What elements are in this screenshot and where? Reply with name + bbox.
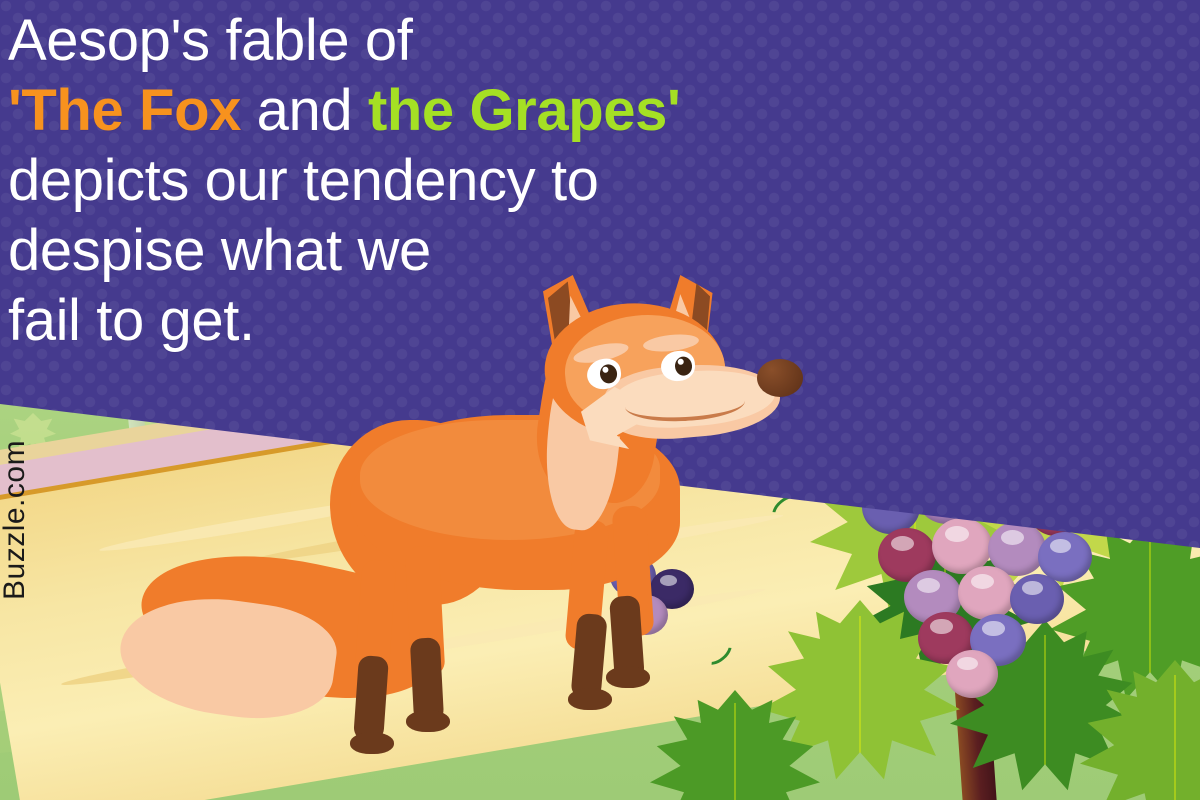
- fox-pupil-left: [599, 363, 618, 384]
- quote-close: ': [667, 78, 680, 143]
- fox-character: [150, 270, 770, 800]
- fox-paw: [568, 688, 612, 710]
- conjunction-and: and: [241, 78, 368, 143]
- fox-nose: [757, 359, 803, 397]
- watermark: Buzzle.com: [0, 440, 32, 600]
- quote-open: ': [8, 78, 21, 143]
- fox-sock: [353, 655, 389, 743]
- fox-head: [495, 275, 765, 465]
- fox-paw: [406, 710, 450, 732]
- fox-title-word: The Fox: [21, 78, 241, 143]
- fox-pupil-right: [674, 356, 692, 376]
- illustration-canvas: Aesop's fable of 'The Fox and the Grapes…: [0, 0, 1200, 800]
- grapes-title-word: the Grapes: [368, 78, 667, 143]
- fox-paw: [350, 732, 394, 754]
- headline-line-2: 'The Fox and the Grapes': [8, 76, 768, 146]
- fox-paw: [606, 666, 650, 688]
- headline-line-1: Aesop's fable of: [8, 6, 768, 76]
- headline-line-3: depicts our tendency to: [8, 146, 768, 216]
